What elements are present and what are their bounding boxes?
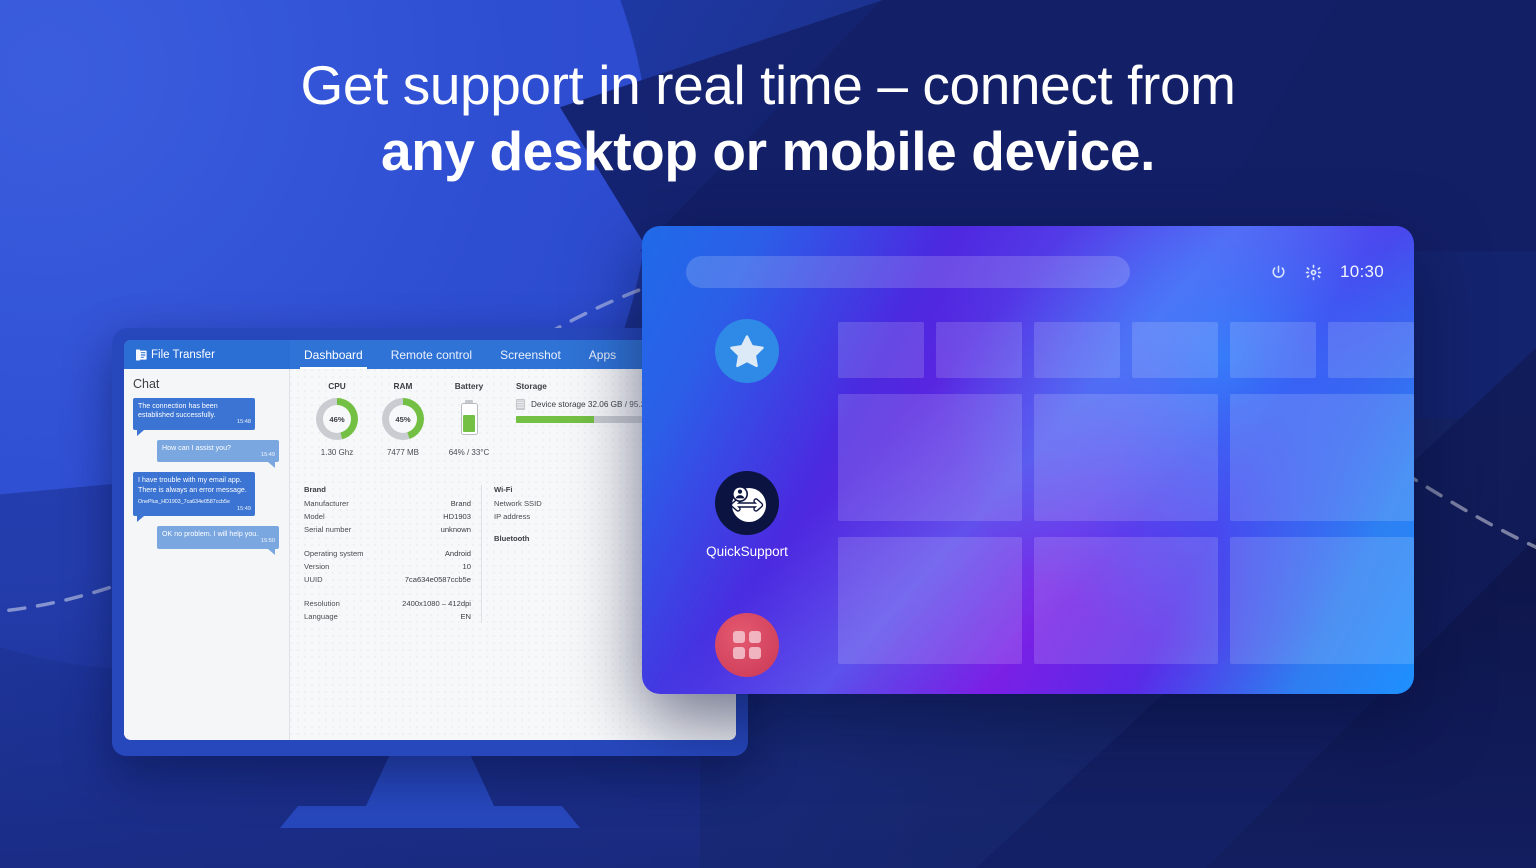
grid-cell[interactable] xyxy=(1034,394,1218,521)
metric-battery-sub: 64% / 33°C xyxy=(436,448,502,457)
mobile-dock: QuickSupport xyxy=(684,314,810,670)
hard-drive-icon xyxy=(516,399,525,410)
quicksupport-button[interactable] xyxy=(715,471,779,535)
metric-cpu-label: CPU xyxy=(304,381,370,391)
ram-donut-gauge: 45% xyxy=(382,398,424,440)
info-row: Operating systemAndroid xyxy=(304,547,471,560)
grid-row-bottom xyxy=(838,537,1414,664)
chat-message-time: 15:48 xyxy=(237,418,251,427)
grid-cell[interactable] xyxy=(838,537,1022,664)
metric-ram-sub: 7477 MB xyxy=(370,448,436,457)
grid-cell[interactable] xyxy=(1132,322,1218,378)
chat-message: How can I assist you? 15:49 xyxy=(157,440,279,462)
grid-cell[interactable] xyxy=(936,322,1022,378)
banner-stage: Get support in real time – connect from … xyxy=(0,0,1536,868)
info-key: Manufacturer xyxy=(304,497,349,510)
tab-dashboard[interactable]: Dashboard xyxy=(290,340,377,369)
grid-row-middle xyxy=(838,394,1414,521)
info-value: Android xyxy=(445,547,471,560)
cpu-donut-gauge: 46% xyxy=(316,398,358,440)
mobile-address-bar[interactable] xyxy=(686,256,1130,288)
metric-battery-label: Battery xyxy=(436,381,502,391)
metric-cpu: CPU 46% 1.30 Ghz xyxy=(304,381,370,457)
apps-grid-icon xyxy=(732,630,762,660)
metric-ram-label: RAM xyxy=(370,381,436,391)
info-row: Version10 xyxy=(304,560,471,573)
info-value: 7ca634e0587ccb5e xyxy=(405,573,471,586)
chat-panel: Chat The connection has been established… xyxy=(124,369,290,740)
info-key: IP address xyxy=(494,510,530,523)
info-key: Resolution xyxy=(304,597,340,610)
chat-message-text: OK no problem. I will help you. xyxy=(162,530,258,538)
chat-message-time: 15:50 xyxy=(261,537,275,546)
grid-cell[interactable] xyxy=(1034,537,1218,664)
grid-cell[interactable] xyxy=(1328,322,1414,378)
info-row: Serial numberunknown xyxy=(304,523,471,536)
info-value: 2400x1080 – 412dpi xyxy=(402,597,471,610)
gear-icon[interactable] xyxy=(1305,264,1322,281)
file-transfer-icon xyxy=(136,349,147,361)
info-key: Serial number xyxy=(304,523,351,536)
tab-dashboard-label: Dashboard xyxy=(304,348,363,362)
page-headline: Get support in real time – connect from … xyxy=(0,52,1536,183)
quicksupport-icon xyxy=(723,479,771,527)
chat-message-time: 15:49 xyxy=(237,505,251,514)
metric-ram: RAM 45% 7477 MB xyxy=(370,381,436,457)
info-value: HD1903 xyxy=(443,510,471,523)
info-row: Resolution2400x1080 – 412dpi xyxy=(304,597,471,610)
tab-screenshot[interactable]: Screenshot xyxy=(486,340,575,369)
info-row: ModelHD1903 xyxy=(304,510,471,523)
chat-message-text: How can I assist you? xyxy=(162,444,231,452)
mobile-status-bar: 10:30 xyxy=(1270,256,1384,288)
chat-message-device-id: OnePlus_HD1903_7ca634e0587ccb5e xyxy=(138,498,250,507)
info-key: Model xyxy=(304,510,325,523)
apps-grid-button[interactable] xyxy=(715,613,779,677)
tab-screenshot-label: Screenshot xyxy=(500,348,561,362)
tab-remote-control[interactable]: Remote control xyxy=(377,340,486,369)
favorites-button[interactable] xyxy=(715,319,779,383)
headline-line-2: any desktop or mobile device. xyxy=(0,119,1536,183)
device-info-title: Brand xyxy=(304,485,471,494)
info-row: ManufacturerBrand xyxy=(304,497,471,510)
info-key: Version xyxy=(304,560,329,573)
power-icon[interactable] xyxy=(1270,264,1287,281)
info-key: Language xyxy=(304,610,338,623)
metric-battery: Battery 64% / 33°C xyxy=(436,381,502,457)
mobile-clock: 10:30 xyxy=(1340,262,1384,282)
file-transfer-label: File Transfer xyxy=(151,349,215,361)
info-value: EN xyxy=(460,610,471,623)
cpu-donut-value: 46% xyxy=(329,415,344,424)
info-row: UUID7ca634e0587ccb5e xyxy=(304,573,471,586)
grid-cell[interactable] xyxy=(838,322,924,378)
chat-message: I have trouble with my email app. There … xyxy=(133,472,255,516)
headline-line-1: Get support in real time – connect from xyxy=(0,52,1536,119)
file-transfer-button[interactable]: File Transfer xyxy=(124,340,290,369)
grid-cell[interactable] xyxy=(1034,322,1120,378)
storage-text: Device storage 32.06 GB / 95.2 xyxy=(531,400,645,409)
info-key: Network SSID xyxy=(494,497,542,510)
chat-message-text: I have trouble with my email app. There … xyxy=(138,476,247,493)
chat-message: OK no problem. I will help you. 15:50 xyxy=(157,526,279,548)
chat-message-text: The connection has been established succ… xyxy=(138,402,218,419)
info-key: Operating system xyxy=(304,547,364,560)
device-info-column: Brand ManufacturerBrand ModelHD1903 Seri… xyxy=(304,485,482,623)
tab-apps-label: Apps xyxy=(589,348,616,362)
chat-title: Chat xyxy=(133,377,280,391)
info-row: LanguageEN xyxy=(304,610,471,623)
mobile-content-grid xyxy=(838,322,1414,664)
grid-cell[interactable] xyxy=(1230,537,1414,664)
monitor-foot xyxy=(280,806,580,828)
tab-remote-control-label: Remote control xyxy=(391,348,472,362)
grid-cell[interactable] xyxy=(838,394,1022,521)
tab-apps[interactable]: Apps xyxy=(575,340,630,369)
grid-row-top xyxy=(838,322,1414,378)
info-value: Brand xyxy=(451,497,471,510)
star-icon xyxy=(730,335,764,368)
quicksupport-label: QuickSupport xyxy=(706,544,788,559)
mobile-device-panel: 10:30 QuickSupport xyxy=(642,226,1414,694)
info-value: unknown xyxy=(441,523,471,536)
ram-donut-value: 45% xyxy=(395,415,410,424)
grid-cell[interactable] xyxy=(1230,322,1316,378)
info-key: UUID xyxy=(304,573,323,586)
chat-message-time: 15:49 xyxy=(261,451,275,460)
grid-cell[interactable] xyxy=(1230,394,1414,521)
info-value: 10 xyxy=(463,560,471,573)
battery-icon xyxy=(448,398,490,440)
chat-message: The connection has been established succ… xyxy=(133,398,255,430)
metric-cpu-sub: 1.30 Ghz xyxy=(304,448,370,457)
